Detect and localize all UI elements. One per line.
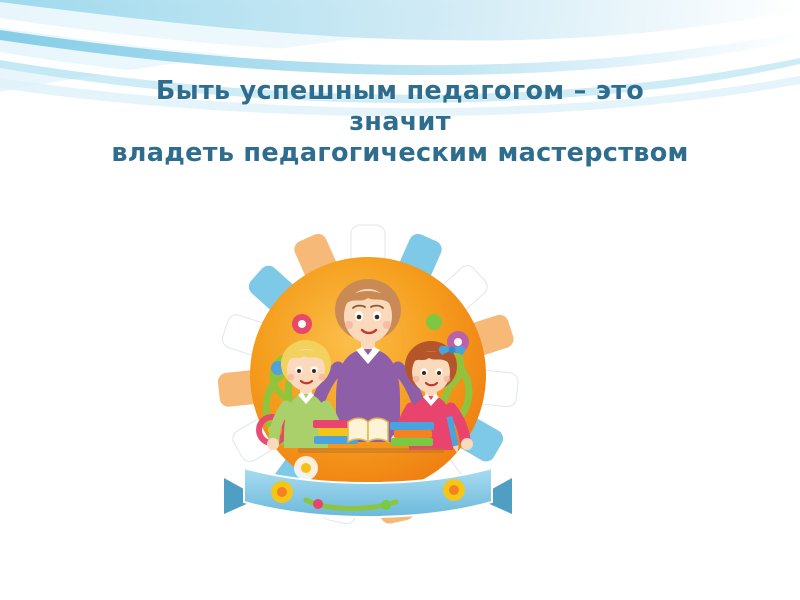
title-line-2: значит	[40, 107, 760, 138]
title-line-3: владеть педагогическим мастерством	[40, 138, 760, 169]
illustration-svg	[186, 192, 550, 558]
illustration-image	[186, 192, 550, 558]
slide: Быть успешным педагогом – это значит вла…	[0, 0, 800, 600]
title-line-1: Быть успешным педагогом – это	[40, 76, 760, 107]
page-title: Быть успешным педагогом – это значит вла…	[40, 76, 760, 169]
